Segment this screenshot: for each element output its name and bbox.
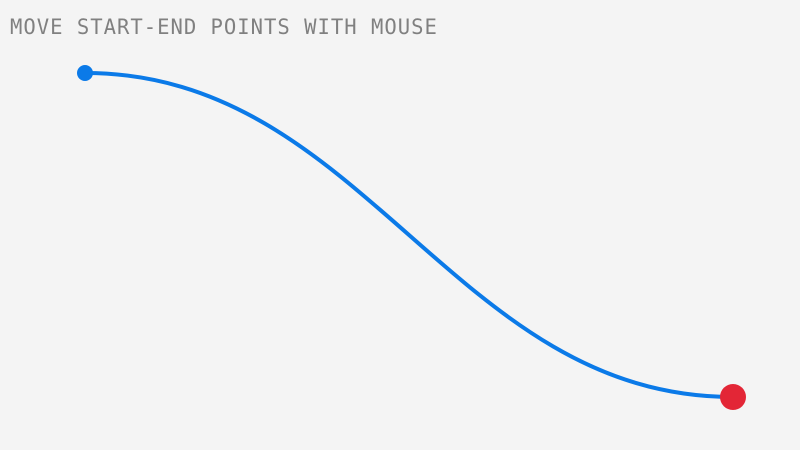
end-point-handle[interactable] (720, 384, 746, 410)
canvas-root: MOVE START-END POINTS WITH MOUSE (0, 0, 800, 450)
curve-canvas[interactable] (0, 0, 800, 450)
start-point-handle[interactable] (77, 65, 93, 81)
bezier-curve-path (85, 73, 733, 397)
